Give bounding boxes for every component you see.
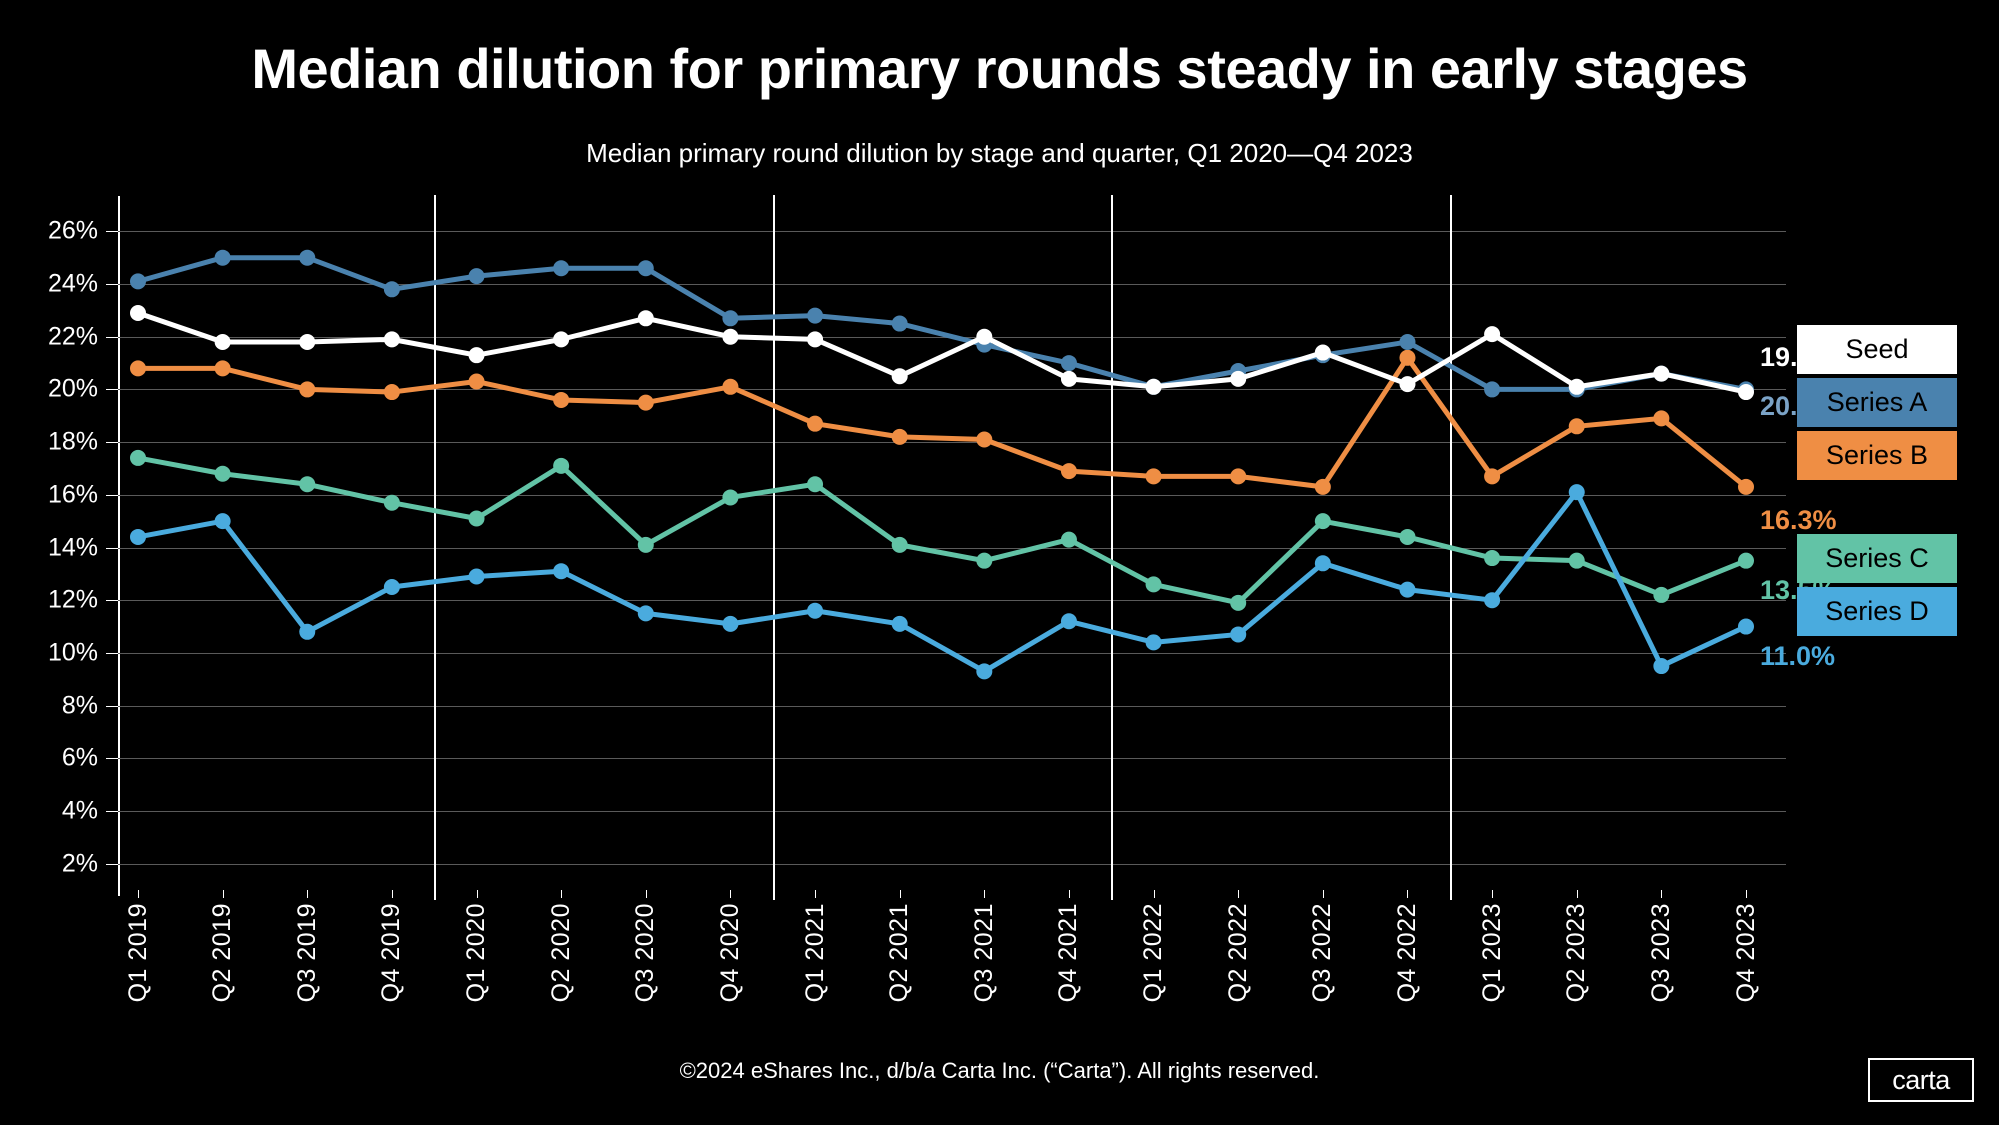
data-point — [976, 663, 992, 679]
x-axis-label-text: Q1 2019 — [124, 903, 153, 1002]
data-point — [215, 513, 231, 529]
x-axis-label: Q1 2022 — [1139, 903, 1169, 1002]
data-point — [807, 476, 823, 492]
data-point — [469, 374, 485, 390]
data-point — [384, 331, 400, 347]
data-point — [130, 360, 146, 376]
data-point — [976, 553, 992, 569]
data-point — [1315, 479, 1331, 495]
data-point — [1061, 463, 1077, 479]
data-point — [384, 384, 400, 400]
y-axis-tick-label: 20% — [0, 375, 98, 404]
x-axis-label-text: Q3 2022 — [1308, 903, 1337, 1002]
data-point — [384, 579, 400, 595]
x-axis-label: Q3 2020 — [631, 903, 661, 1002]
x-axis-label: Q4 2019 — [377, 903, 407, 1002]
x-axis-label-text: Q2 2022 — [1224, 903, 1253, 1002]
data-point — [1569, 418, 1585, 434]
series-line-seed — [138, 313, 1746, 392]
data-point — [1315, 513, 1331, 529]
data-point — [299, 250, 315, 266]
series-line-series-a — [138, 258, 1746, 390]
data-point — [299, 334, 315, 350]
x-axis-label: Q2 2019 — [208, 903, 238, 1002]
x-axis-label: Q3 2022 — [1308, 903, 1338, 1002]
x-axis-label: Q2 2022 — [1223, 903, 1253, 1002]
data-point — [1146, 379, 1162, 395]
data-point — [638, 605, 654, 621]
data-point — [1399, 334, 1415, 350]
data-point — [1569, 484, 1585, 500]
data-point — [722, 310, 738, 326]
data-point — [1399, 350, 1415, 366]
y-axis-tick-label: 10% — [0, 638, 98, 667]
x-axis-label-text: Q4 2019 — [377, 903, 406, 1002]
data-point — [1653, 410, 1669, 426]
x-axis-label-text: Q3 2023 — [1647, 903, 1676, 1002]
y-axis-tick-label: 16% — [0, 480, 98, 509]
series-line-series-b — [138, 358, 1746, 487]
data-point — [1061, 355, 1077, 371]
data-point — [1653, 658, 1669, 674]
y-axis-tick-mark — [106, 758, 118, 759]
data-point — [1653, 587, 1669, 603]
x-axis-label: Q3 2019 — [292, 903, 322, 1002]
x-axis-label: Q2 2023 — [1562, 903, 1592, 1002]
x-axis-label-text: Q4 2021 — [1054, 903, 1083, 1002]
y-axis-tick-mark — [106, 231, 118, 232]
data-point — [1399, 582, 1415, 598]
legend-item-series-b[interactable]: Series B — [1797, 431, 1957, 480]
data-point — [807, 308, 823, 324]
x-axis-label: Q3 2023 — [1646, 903, 1676, 1002]
data-point — [722, 489, 738, 505]
series-line-series-d — [138, 492, 1746, 671]
x-axis-label: Q4 2020 — [715, 903, 745, 1002]
x-axis-label: Q1 2019 — [123, 903, 153, 1002]
x-axis-tick-mark — [1577, 890, 1578, 898]
y-axis-tick-label: 18% — [0, 428, 98, 457]
x-axis-label-text: Q1 2022 — [1139, 903, 1168, 1002]
data-point — [553, 458, 569, 474]
page-subtitle: Median primary round dilution by stage a… — [0, 138, 1999, 169]
y-axis-tick-label: 6% — [0, 744, 98, 773]
x-axis-tick-mark — [900, 890, 901, 898]
data-point — [553, 260, 569, 276]
x-axis-tick-mark — [1661, 890, 1662, 898]
x-axis-label-text: Q2 2021 — [885, 903, 914, 1002]
legend-item-series-d[interactable]: Series D — [1797, 587, 1957, 636]
x-axis-tick-mark — [1154, 890, 1155, 898]
data-point — [215, 466, 231, 482]
y-axis-tick-mark — [106, 495, 118, 496]
x-axis-tick-mark — [646, 890, 647, 898]
x-axis-label: Q1 2020 — [462, 903, 492, 1002]
x-axis-tick-mark — [392, 890, 393, 898]
series-lines — [118, 205, 1786, 890]
data-point — [469, 347, 485, 363]
data-point — [384, 495, 400, 511]
data-point — [892, 368, 908, 384]
data-point — [892, 316, 908, 332]
y-axis-tick-label: 14% — [0, 533, 98, 562]
x-axis-tick-mark — [307, 890, 308, 898]
y-axis-tick-mark — [106, 389, 118, 390]
data-point — [976, 329, 992, 345]
data-point — [1146, 576, 1162, 592]
y-axis-tick-label: 2% — [0, 849, 98, 878]
data-point — [299, 624, 315, 640]
y-axis-tick-mark — [106, 706, 118, 707]
data-point — [1653, 366, 1669, 382]
data-point — [1484, 592, 1500, 608]
data-point — [299, 381, 315, 397]
y-axis-tick-mark — [106, 442, 118, 443]
y-axis-tick-mark — [106, 653, 118, 654]
x-axis-tick-mark — [984, 890, 985, 898]
data-point — [976, 431, 992, 447]
data-point — [722, 616, 738, 632]
data-point — [1569, 379, 1585, 395]
data-point — [299, 476, 315, 492]
data-point — [215, 250, 231, 266]
chart-plot-area: 2%4%6%8%10%12%14%16%18%20%22%24%26% Q1 2… — [118, 205, 1786, 890]
x-axis-label: Q4 2022 — [1392, 903, 1422, 1002]
data-point — [215, 360, 231, 376]
x-axis-label-text: Q3 2021 — [970, 903, 999, 1002]
data-point — [215, 334, 231, 350]
data-point — [892, 616, 908, 632]
x-axis-label: Q2 2021 — [885, 903, 915, 1002]
x-axis-tick-mark — [730, 890, 731, 898]
y-axis-tick-mark — [106, 284, 118, 285]
y-axis-tick-label: 8% — [0, 691, 98, 720]
footer-copyright: ©2024 eShares Inc., d/b/a Carta Inc. (“C… — [0, 1058, 1999, 1084]
data-point — [1146, 468, 1162, 484]
legend-item-series-c[interactable]: Series C — [1797, 534, 1957, 583]
carta-logo: carta — [1868, 1058, 1974, 1102]
x-axis-label: Q1 2023 — [1477, 903, 1507, 1002]
data-point — [1484, 326, 1500, 342]
x-axis-label-text: Q4 2022 — [1393, 903, 1422, 1002]
data-point — [1569, 553, 1585, 569]
x-axis-label-text: Q4 2020 — [716, 903, 745, 1002]
data-point — [892, 429, 908, 445]
data-point — [1738, 619, 1754, 635]
x-axis-tick-mark — [815, 890, 816, 898]
x-axis-label-text: Q1 2021 — [801, 903, 830, 1002]
x-axis-tick-mark — [477, 890, 478, 898]
data-point — [553, 563, 569, 579]
data-point — [807, 331, 823, 347]
data-point — [469, 511, 485, 527]
data-point — [469, 568, 485, 584]
x-axis-tick-mark — [138, 890, 139, 898]
end-label-series-d: 11.0% — [1760, 641, 1835, 672]
page-title: Median dilution for primary rounds stead… — [0, 38, 1999, 100]
x-axis-label-text: Q4 2023 — [1732, 903, 1761, 1002]
y-axis-tick-mark — [106, 548, 118, 549]
chart-legend: SeedSeries ASeries BSeries CSeries D — [1797, 325, 1957, 640]
x-axis-tick-mark — [1746, 890, 1747, 898]
y-axis-tick-label: 4% — [0, 796, 98, 825]
data-point — [553, 392, 569, 408]
x-axis-tick-mark — [1069, 890, 1070, 898]
data-point — [807, 416, 823, 432]
legend-item-series-a[interactable]: Series A — [1797, 378, 1957, 427]
data-point — [384, 281, 400, 297]
data-point — [1738, 479, 1754, 495]
y-axis-tick-label: 24% — [0, 270, 98, 299]
data-point — [130, 273, 146, 289]
y-axis-tick-mark — [106, 600, 118, 601]
data-point — [1484, 468, 1500, 484]
y-axis-tick-mark — [106, 811, 118, 812]
data-point — [1146, 634, 1162, 650]
data-point — [130, 529, 146, 545]
data-point — [638, 260, 654, 276]
x-axis-tick-mark — [1323, 890, 1324, 898]
y-axis-tick-label: 22% — [0, 322, 98, 351]
x-axis-tick-mark — [1492, 890, 1493, 898]
x-axis-label-text: Q2 2020 — [547, 903, 576, 1002]
data-point — [130, 450, 146, 466]
data-point — [130, 305, 146, 321]
x-axis-label: Q1 2021 — [800, 903, 830, 1002]
data-point — [892, 537, 908, 553]
data-point — [1315, 345, 1331, 361]
data-point — [553, 331, 569, 347]
x-axis-label: Q3 2021 — [969, 903, 999, 1002]
data-point — [1061, 532, 1077, 548]
data-point — [1399, 529, 1415, 545]
x-axis-label-text: Q3 2019 — [293, 903, 322, 1002]
data-point — [1484, 550, 1500, 566]
data-point — [1230, 371, 1246, 387]
y-axis-tick-mark — [106, 864, 118, 865]
data-point — [638, 310, 654, 326]
x-axis-label-text: Q3 2020 — [631, 903, 660, 1002]
legend-item-seed[interactable]: Seed — [1797, 325, 1957, 374]
x-axis-tick-mark — [1407, 890, 1408, 898]
x-axis-label-text: Q1 2023 — [1478, 903, 1507, 1002]
data-point — [638, 537, 654, 553]
y-axis-tick-mark — [106, 337, 118, 338]
x-axis-tick-mark — [223, 890, 224, 898]
data-point — [722, 329, 738, 345]
x-axis-label: Q4 2023 — [1731, 903, 1761, 1002]
y-axis-tick-label: 26% — [0, 217, 98, 246]
data-point — [1061, 613, 1077, 629]
x-axis-label: Q2 2020 — [546, 903, 576, 1002]
data-point — [1738, 384, 1754, 400]
x-axis-label-text: Q1 2020 — [462, 903, 491, 1002]
x-axis-tick-mark — [561, 890, 562, 898]
data-point — [1230, 468, 1246, 484]
data-point — [1484, 381, 1500, 397]
data-point — [469, 268, 485, 284]
data-point — [638, 395, 654, 411]
data-point — [1061, 371, 1077, 387]
x-axis-tick-mark — [1238, 890, 1239, 898]
data-point — [807, 603, 823, 619]
data-point — [1738, 553, 1754, 569]
data-point — [722, 379, 738, 395]
data-point — [1399, 376, 1415, 392]
data-point — [1230, 626, 1246, 642]
x-axis-label: Q4 2021 — [1054, 903, 1084, 1002]
chart-page: Median dilution for primary rounds stead… — [0, 0, 1999, 1125]
y-axis-tick-label: 12% — [0, 586, 98, 615]
data-point — [1315, 555, 1331, 571]
x-axis-label-text: Q2 2019 — [208, 903, 237, 1002]
data-point — [1230, 595, 1246, 611]
x-axis-label-text: Q2 2023 — [1562, 903, 1591, 1002]
